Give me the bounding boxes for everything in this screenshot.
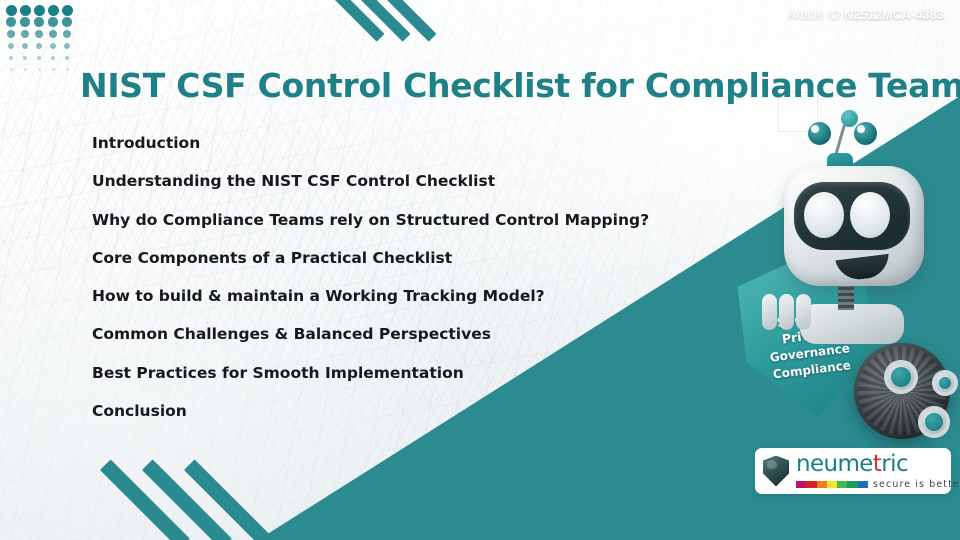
dot [21, 30, 29, 38]
dot-grid-row [4, 4, 74, 16]
dot [64, 43, 70, 49]
dot [38, 68, 41, 71]
dot [62, 17, 71, 26]
logo-tagline: secure is better [873, 479, 960, 490]
robot-eye-gleam [811, 125, 819, 133]
dot [34, 17, 43, 26]
toc-item[interactable]: Best Practices for Smooth Implementation [92, 366, 732, 382]
dot [35, 30, 43, 38]
logo-color-segment [847, 481, 857, 488]
dot [65, 56, 70, 61]
robot-shoulders [800, 304, 904, 344]
page-title: NIST CSF Control Checklist for Complianc… [80, 66, 960, 105]
dot [51, 56, 56, 61]
logo-shield-icon [763, 456, 789, 487]
dot [23, 56, 28, 61]
dot [37, 56, 42, 61]
robot-finger [796, 294, 811, 330]
toc-item[interactable]: Why do Compliance Teams rely on Structur… [92, 213, 732, 229]
toc-item[interactable]: Core Components of a Practical Checklist [92, 251, 732, 267]
dot-grid-row [4, 40, 74, 52]
wheel-hub [884, 360, 918, 394]
dot [7, 30, 15, 38]
antenna-bulb-icon [841, 110, 858, 127]
dot [50, 43, 56, 49]
dot [48, 5, 59, 16]
robot-finger [762, 294, 777, 330]
dot [34, 5, 45, 16]
dot [6, 5, 17, 16]
robot-eye-left [804, 192, 844, 238]
dot-grid-row [4, 52, 74, 64]
dot-grid-row [4, 16, 74, 28]
logo-color-segment [806, 481, 816, 488]
wheel-hub [918, 406, 950, 438]
logo-color-segment [837, 481, 847, 488]
logo-wordmark-part1: neume [796, 451, 873, 477]
article-id-label: Article ID [788, 8, 841, 22]
dot [63, 30, 71, 38]
decorative-dot-grid [4, 4, 74, 76]
logo-color-segment [817, 481, 827, 488]
dot-grid-row [4, 28, 74, 40]
dot [49, 30, 57, 38]
dot [52, 68, 55, 71]
toc-item[interactable]: How to build & maintain a Working Tracki… [92, 289, 732, 305]
dot [6, 17, 15, 26]
neumetric-logo[interactable]: neumetric secure is better [755, 448, 951, 494]
article-id-value: N2512MCA-4383 [844, 8, 944, 22]
robot-neck [838, 284, 854, 310]
dot [8, 43, 14, 49]
logo-color-segment [858, 481, 868, 488]
dot [20, 17, 29, 26]
toc-item[interactable]: Common Challenges & Balanced Perspective… [92, 327, 732, 343]
logo-wordmark: neumetric [796, 453, 960, 476]
top-diagonal-stripes [330, 0, 460, 30]
robot-mascot: SecurityPrivacyGovernanceCompliance [726, 108, 960, 453]
table-of-contents: IntroductionUnderstanding the NIST CSF C… [92, 136, 732, 442]
dot [66, 68, 69, 71]
dot [20, 5, 31, 16]
bottom-diagonal-stripes [100, 455, 290, 540]
dot [62, 5, 73, 16]
dot [22, 43, 28, 49]
robot-finger [779, 294, 794, 330]
dot [36, 43, 42, 49]
toc-item[interactable]: Introduction [92, 136, 732, 152]
toc-item[interactable]: Understanding the NIST CSF Control Check… [92, 174, 732, 190]
dot-grid-row [4, 64, 74, 76]
dot [10, 68, 13, 71]
dot [24, 68, 27, 71]
dot [48, 17, 57, 26]
logo-color-bar [796, 481, 868, 488]
toc-item[interactable]: Conclusion [92, 404, 732, 420]
wheel-hub [932, 370, 958, 396]
logo-wordmark-part2: ric [881, 451, 908, 477]
logo-color-segment [827, 481, 837, 488]
article-id: Article ID N2512MCA-4383 [788, 8, 944, 22]
robot-eye-right [850, 192, 890, 238]
slide-canvas: Article ID N2512MCA-4383 NIST CSF Contro… [0, 0, 960, 540]
dot [9, 56, 14, 61]
robot-eye-gleam [857, 125, 865, 133]
logo-color-segment [796, 481, 806, 488]
diagonal-stripe [184, 459, 274, 540]
